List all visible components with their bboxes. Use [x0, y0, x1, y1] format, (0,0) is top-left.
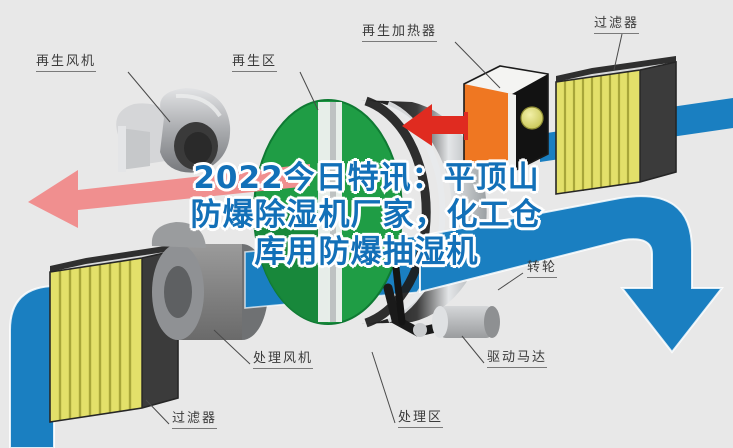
dehumidifier-diagram: [0, 0, 733, 448]
callout-regen-fan: 再生风机: [36, 55, 96, 72]
callout-regen-heater: 再生加热器: [362, 25, 437, 42]
callout-filter-top: 过滤器: [594, 17, 639, 34]
illustration-canvas: 2022今日特讯：平顶山 防爆除湿机厂家，化工仓 库用防爆抽湿机 再生风机 再生…: [0, 0, 733, 448]
callout-drive-motor: 驱动马达: [487, 351, 547, 368]
regeneration-heater: [464, 66, 548, 173]
callout-process-zone: 处理区: [398, 411, 443, 428]
callout-rotor: 转轮: [527, 261, 557, 278]
callout-process-fan: 处理风机: [253, 352, 313, 369]
callout-regen-zone: 再生区: [232, 55, 277, 72]
callout-filter-bottom: 过滤器: [172, 412, 217, 429]
